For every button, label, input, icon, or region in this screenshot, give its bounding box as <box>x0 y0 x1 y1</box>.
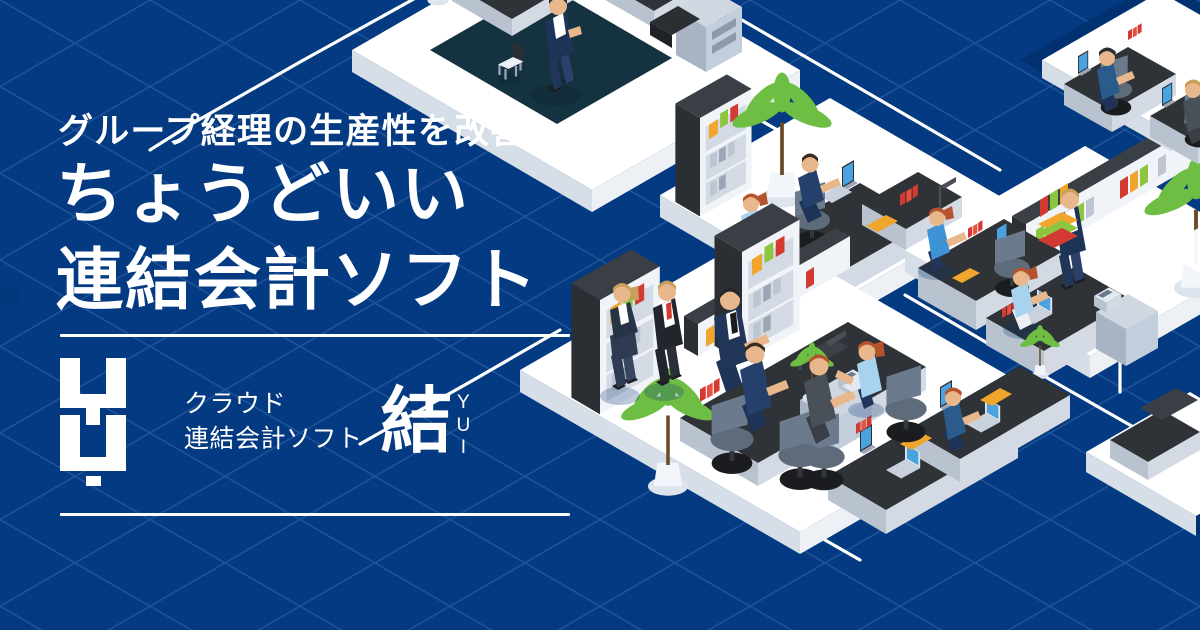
product-logo-lockup: クラウド 連結会計ソフト 結 Y U I <box>60 352 471 492</box>
logo-romaji-letter-i: I <box>461 437 467 459</box>
divider-below-logo <box>60 513 570 516</box>
hero-subheadline: グループ経理の生産性を改善 <box>58 103 527 154</box>
hero-banner: グループ経理の生産性を改善 ちょうどいい 連結会計ソフト <box>0 0 1200 630</box>
logo-tagline: クラウド 連結会計ソフト <box>184 387 363 458</box>
yui-logo-mark <box>60 358 142 486</box>
logo-text-group: クラウド 連結会計ソフト 結 Y U I <box>184 384 471 459</box>
divider-above-logo <box>60 334 570 337</box>
island-corner-workstations <box>1042 0 1200 164</box>
logo-product-kanji: 結 <box>381 386 453 458</box>
logo-romaji-vertical: Y U I <box>457 392 472 459</box>
hero-headline: ちょうどいい 連結会計ソフト <box>56 152 539 324</box>
logo-romaji-letter-u: U <box>457 415 472 437</box>
hero-copy-block: グループ経理の生産性を改善 ちょうどいい 連結会計ソフト <box>0 0 620 630</box>
logo-romaji-letter-y: Y <box>457 392 471 414</box>
